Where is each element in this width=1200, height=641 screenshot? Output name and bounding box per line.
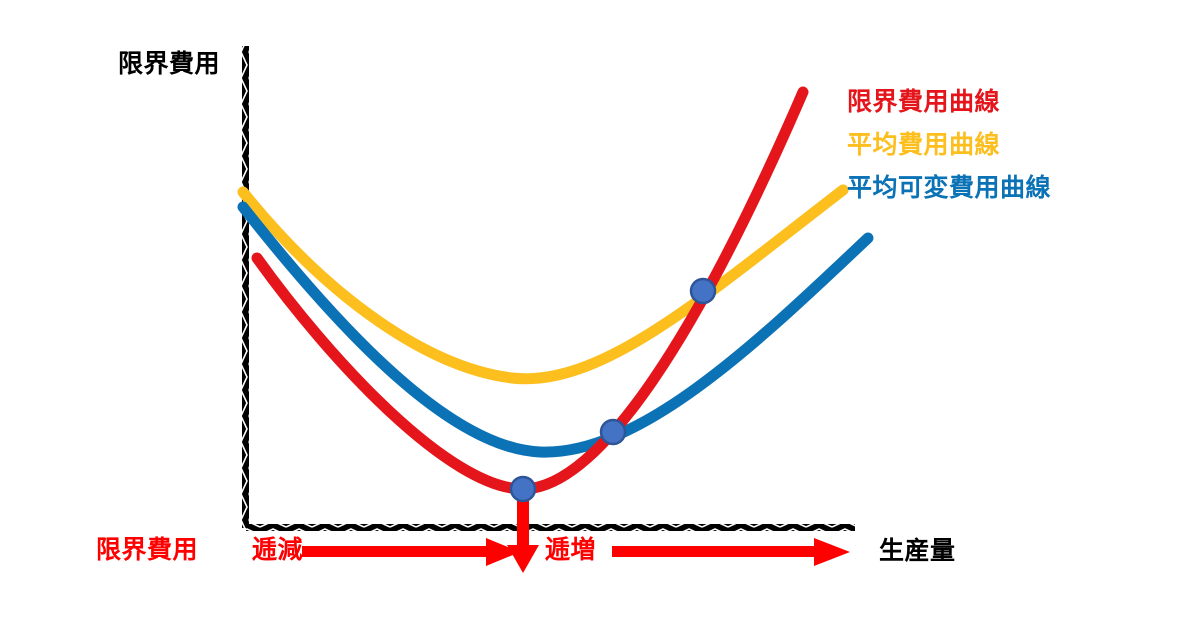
chart-canvas: 限界費用 生産量 限界費用曲線 平均費用曲線 平均可変費用曲線 限界費用 逓減 …	[0, 0, 1200, 641]
phase-label-increasing: 逓増	[545, 538, 596, 563]
y-axis-label: 限界費用	[118, 52, 220, 77]
legend-item-average-cost: 平均費用曲線	[847, 133, 1000, 158]
phase-label-decreasing: 逓減	[252, 538, 303, 563]
phase-arrow-increasing	[612, 538, 850, 566]
marker-mc-minimum	[511, 477, 535, 501]
marker-mc-avc-intersection	[601, 420, 625, 444]
phase-arrow-decreasing	[302, 538, 520, 566]
x-axis-label: 生産量	[879, 539, 956, 564]
x-axis	[246, 524, 855, 531]
legend-item-marginal-cost: 限界費用曲線	[847, 90, 1000, 115]
marker-mc-ac-intersection	[691, 279, 715, 303]
phase-row-heading: 限界費用	[96, 538, 198, 563]
y-axis	[242, 46, 249, 528]
legend-item-average-variable-cost: 平均可変費用曲線	[847, 176, 1051, 201]
